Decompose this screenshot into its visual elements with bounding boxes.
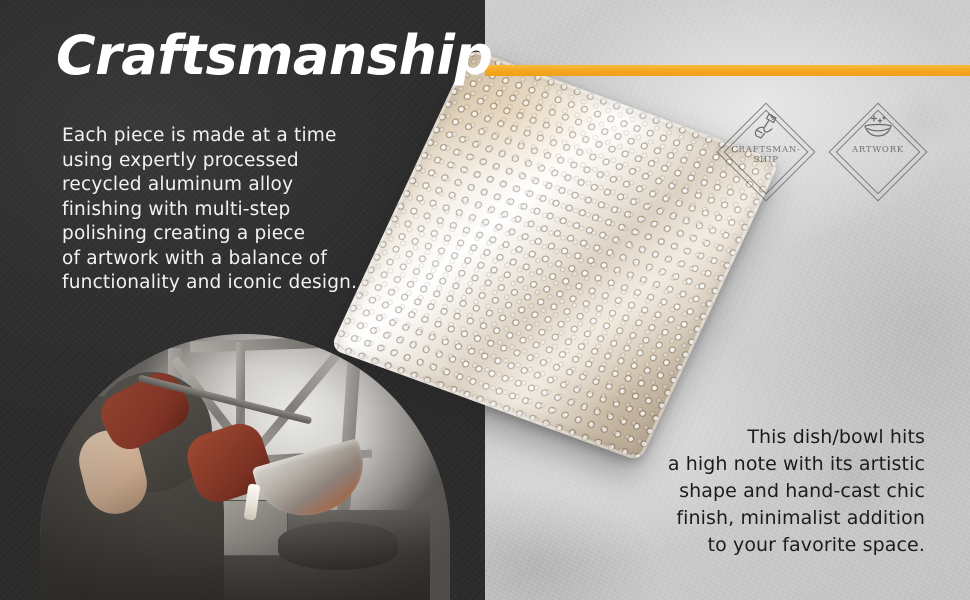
description-line: finishing with multi-step (62, 198, 422, 223)
description-line: functionality and iconic design. (62, 271, 422, 296)
badge-artwork: Artwork (828, 100, 928, 204)
description-text: Each piece is made at a time using exper… (62, 124, 422, 296)
badge-group: Craftsman- ship Artwork (716, 100, 932, 204)
bowl-with-sparkles-icon (858, 110, 898, 144)
description-line: recycled aluminum alloy (62, 173, 422, 198)
workshop-photo-arch (40, 334, 450, 600)
caption-line: This dish/bowl hits (585, 424, 925, 451)
page-title: Craftsmanship (56, 26, 493, 85)
hand-holding-hammer-icon (746, 110, 786, 144)
badge-caption: Craftsman- ship (731, 145, 801, 165)
caption-line: finish, minimalist addition (585, 505, 925, 532)
description-line: Each piece is made at a time (62, 124, 422, 149)
accent-rule (485, 65, 970, 76)
badge-caption-line1: Craftsman- (731, 145, 801, 155)
photo-vignette (40, 334, 450, 600)
caption-line: a high note with its artistic (585, 451, 925, 478)
badge-craftsmanship: Craftsman- ship (716, 100, 816, 204)
badge-caption: Artwork (852, 145, 904, 155)
description-line: polishing creating a piece (62, 222, 422, 247)
caption-line: to your favorite space. (585, 532, 925, 559)
banner-canvas: Craftsmanship Each piece is made at a ti… (0, 0, 970, 600)
product-caption: This dish/bowl hits a high note with its… (585, 424, 925, 559)
description-line: of artwork with a balance of (62, 247, 422, 272)
badge-caption-line1: Artwork (852, 145, 904, 155)
caption-line: shape and hand-cast chic (585, 478, 925, 505)
description-line: using expertly processed (62, 149, 422, 174)
badge-caption-line2: ship (753, 155, 779, 165)
